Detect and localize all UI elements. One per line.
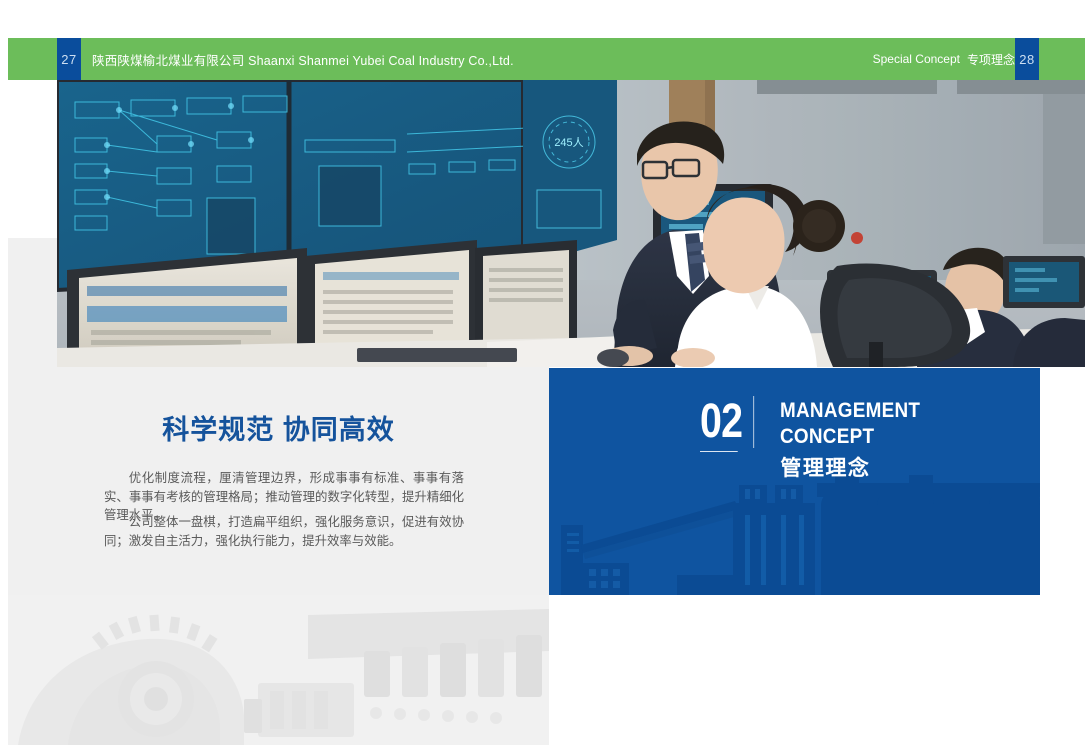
header-bar: 27 陕西陕煤榆北煤业有限公司 Shaanxi Shanmei Yubei Co…	[8, 38, 1085, 80]
concept-number: 02	[700, 396, 754, 448]
page-number-left: 27	[57, 38, 81, 80]
page-number-right: 28	[1015, 38, 1039, 80]
page-title: 科学规范 协同高效	[8, 408, 549, 447]
hero-control-room-photo: 245人	[57, 80, 1085, 367]
industrial-silhouette-graphic	[549, 475, 1040, 595]
brochure-page: 245人	[0, 0, 1085, 745]
concept-panel: 02 MANAGEMENT CONCEPT 管理理念	[549, 368, 1040, 595]
concept-heading-group: 02 MANAGEMENT CONCEPT 管理理念	[700, 396, 1040, 484]
concept-title-en: MANAGEMENT CONCEPT	[780, 398, 1014, 450]
section-label-cn: 专项理念	[967, 51, 1015, 68]
concept-title-cn: 管理理念	[780, 454, 1040, 484]
machinery-watermark-image	[8, 595, 549, 745]
section-label-en: Special Concept	[873, 52, 960, 66]
body-paragraph-2: 公司整体一盘棋，打造扁平组织，强化服务意识，促进有效协同；激发自主活力，强化执行…	[104, 513, 464, 550]
concept-title-group: MANAGEMENT CONCEPT 管理理念	[780, 396, 1040, 484]
hero-photo-art: 245人	[57, 80, 1085, 367]
machinery-watermark-art	[8, 595, 549, 745]
company-name: 陕西陕煤榆北煤业有限公司 Shaanxi Shanmei Yubei Coal …	[92, 38, 514, 80]
section-label: Special Concept 专项理念	[873, 38, 1015, 80]
